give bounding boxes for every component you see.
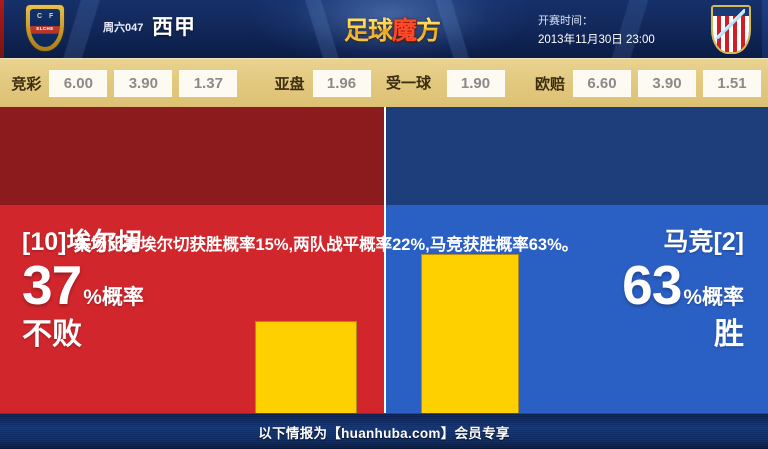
away-percent-value: 63 xyxy=(622,259,681,313)
home-outcome-label: 不败 xyxy=(22,318,144,351)
odds-cell-home[interactable]: 1.96 xyxy=(313,70,371,97)
odds-bar: 竞彩 6.00 3.90 1.37 亚盘 1.96 受一球 1.90 欧赔 6.… xyxy=(0,58,768,108)
crest-initials: CF xyxy=(30,13,60,20)
odds-cell-away[interactable]: 1.37 xyxy=(179,70,237,97)
odds-cell-draw[interactable]: 3.90 xyxy=(638,70,696,97)
away-outcome-label: 胜 xyxy=(622,318,744,351)
away-percent-suffix: %概率 xyxy=(683,281,744,311)
home-percent-value: 37 xyxy=(22,259,81,313)
kickoff-time-label: 开赛时间： xyxy=(538,12,593,28)
header-bar: CF ELCHE 周六047 西甲 足球魔方 开赛时间： 2013年11月30日… xyxy=(0,0,768,58)
odds-cell-away[interactable]: 1.51 xyxy=(703,70,761,97)
odds-cell-away[interactable]: 1.90 xyxy=(447,70,505,97)
site-brand-logo: 足球魔方 xyxy=(332,11,452,47)
league-name: 西甲 xyxy=(152,11,196,41)
odds-group-label: 竞彩 xyxy=(11,73,41,94)
odds-cell-home[interactable]: 6.60 xyxy=(573,70,631,97)
header-accent-left xyxy=(0,0,4,58)
home-percent-row: 37 %概率 xyxy=(22,259,144,313)
odds-group-oupei: 欧赔 6.60 3.90 1.51 xyxy=(535,70,768,97)
odds-group-label: 欧赔 xyxy=(535,73,565,94)
odds-cell-draw[interactable]: 3.90 xyxy=(114,70,172,97)
probability-panels: [10]埃尔切 37 %概率 不败 马竞[2] 63 %概率 胜 本场比赛 xyxy=(0,107,768,413)
odds-group-label: 亚盘 xyxy=(275,73,305,94)
odds-group-yapan: 亚盘 1.96 受一球 1.90 xyxy=(275,70,512,97)
crest-shield-shape xyxy=(711,5,751,54)
home-panel-dark-band xyxy=(0,107,384,205)
crest-diagonal xyxy=(715,9,745,39)
away-panel-dark-band xyxy=(386,107,768,205)
footer-bar: 以下情报为【huanhuba.com】会员专享 xyxy=(0,413,768,449)
kickoff-time-value: 2013年11月30日 23:00 xyxy=(538,31,655,47)
home-percent-suffix: %概率 xyxy=(83,281,144,311)
match-round-label: 周六047 xyxy=(103,19,143,35)
home-probability-bar xyxy=(255,321,357,413)
footer-notice: 以下情报为【huanhuba.com】会员专享 xyxy=(258,422,509,442)
probability-summary-text: 本场比赛埃尔切获胜概率15%,两队战平概率22%,马竞获胜概率63%。 xyxy=(74,233,694,259)
away-team-panel: 马竞[2] 63 %概率 胜 xyxy=(384,107,768,413)
odds-cell-handicap[interactable]: 受一球 xyxy=(378,70,440,97)
brand-char-2: 球 xyxy=(368,11,392,47)
home-team-panel: [10]埃尔切 37 %概率 不败 xyxy=(0,107,384,413)
away-team-crest-icon xyxy=(706,4,752,54)
header-accent-right xyxy=(762,0,768,58)
odds-group-jingcai: 竞彩 6.00 3.90 1.37 xyxy=(11,70,244,97)
odds-cell-home[interactable]: 6.00 xyxy=(49,70,107,97)
home-team-crest-icon: CF ELCHE xyxy=(22,4,68,54)
brand-char-3: 魔 xyxy=(392,11,416,47)
brand-char-1: 足 xyxy=(344,11,368,47)
brand-char-4: 方 xyxy=(416,11,440,47)
away-probability-bar xyxy=(421,254,519,413)
crest-club-name: ELCHE xyxy=(30,26,60,31)
away-percent-row: 63 %概率 xyxy=(622,259,744,313)
match-probability-graphic: CF ELCHE 周六047 西甲 足球魔方 开赛时间： 2013年11月30日… xyxy=(0,0,768,449)
